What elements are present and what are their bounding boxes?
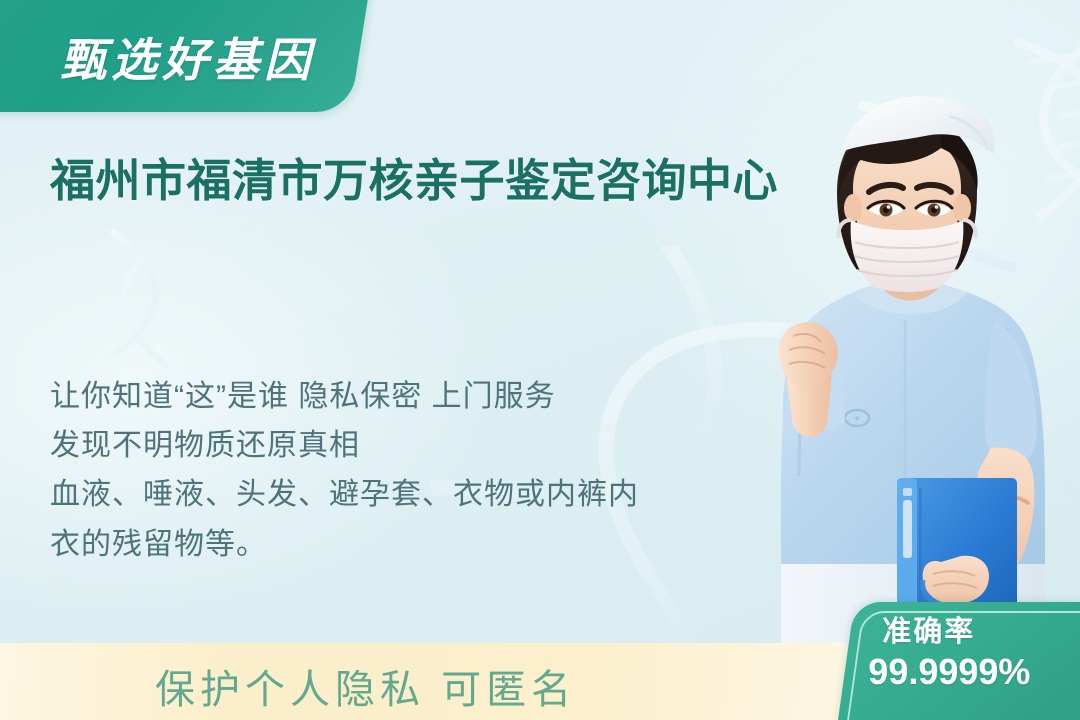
body-copy-line: 发现不明物质还原真相 — [50, 421, 750, 470]
brand-badge-label: 甄选好基因 — [60, 24, 315, 90]
accuracy-badge: 准确率 99.9999% — [838, 602, 1080, 720]
accuracy-label: 准确率 — [882, 616, 1080, 649]
accuracy-value: 99.9999% — [868, 651, 1080, 692]
page-title: 福州市福清市万核亲子鉴定咨询中心 — [50, 152, 860, 210]
promo-poster: + — [0, 0, 1080, 720]
body-copy: 让你知道“这”是谁 隐私保密 上门服务 发现不明物质还原真相 血液、唾液、头发、… — [50, 372, 750, 569]
body-copy-line: 让你知道“这”是谁 隐私保密 上门服务 — [50, 372, 750, 421]
body-copy-line: 血液、唾液、头发、避孕套、衣物或内裤内 — [50, 470, 750, 519]
brand-badge: 甄选好基因 — [0, 0, 371, 112]
privacy-tagline: 保护个人隐私 可匿名 — [155, 657, 576, 715]
body-copy-line: 衣的残留物等。 — [50, 520, 750, 569]
svg-text:+: + — [854, 414, 860, 425]
